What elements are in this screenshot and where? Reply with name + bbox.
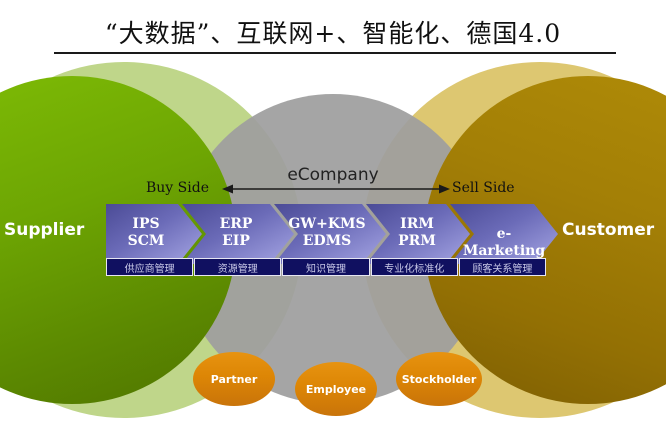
chevron-sublabel-3: 知识管理	[282, 258, 369, 276]
chevron-sublabel-5: 顾客关系管理	[459, 258, 546, 276]
customer-label: Customer	[562, 220, 654, 240]
chevron-shape-1	[106, 204, 202, 264]
buy-side-label: Buy Side	[146, 180, 209, 196]
stakeholder-employee: Employee	[295, 362, 377, 416]
page-title: “大数据”、互联网+、智能化、德国4.0	[0, 14, 666, 54]
chevron-sublabel-4: 专业化标准化	[371, 258, 458, 276]
slide-canvas: “大数据”、互联网+、智能化、德国4.0 Supplier Customer e…	[0, 0, 666, 428]
page-title-text: “大数据”、互联网+、智能化、德国4.0	[99, 14, 567, 54]
chevron-sublabel-2: 资源管理	[194, 258, 281, 276]
stakeholder-partner: Partner	[193, 352, 275, 406]
stakeholder-stockholder: Stockholder	[396, 352, 482, 406]
sell-side-label: Sell Side	[452, 180, 515, 196]
supplier-label: Supplier	[4, 220, 84, 240]
chevron-sublabel-1: 供应商管理	[106, 258, 193, 276]
chevron-shapes	[106, 204, 558, 264]
bidirectional-arrow-icon	[222, 182, 450, 196]
chevron-sublabel-strip: 供应商管理 资源管理 知识管理 专业化标准化 顾客关系管理	[106, 258, 546, 276]
